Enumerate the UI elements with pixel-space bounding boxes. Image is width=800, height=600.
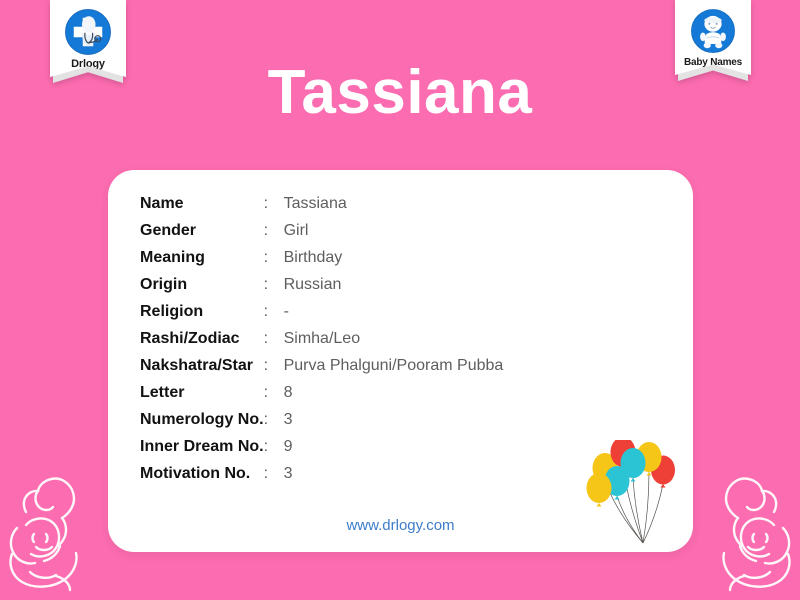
row-separator: : [264, 190, 284, 217]
row-label: Gender [140, 217, 264, 244]
row-label: Nakshatra/Star [140, 352, 264, 379]
table-row: Numerology No. : 3 [140, 406, 503, 433]
row-label: Motivation No. [140, 460, 264, 487]
website-link[interactable]: www.drlogy.com [108, 517, 693, 534]
row-separator: : [264, 325, 284, 352]
row-value: Tassiana [284, 190, 504, 217]
row-separator: : [264, 460, 284, 487]
table-row: Inner Dream No. : 9 [140, 433, 503, 460]
table-row: Motivation No. : 3 [140, 460, 503, 487]
row-value: 3 [284, 406, 504, 433]
row-separator: : [264, 298, 284, 325]
balloons-illustration [579, 440, 687, 552]
table-row: Religion : - [140, 298, 503, 325]
table-row: Meaning : Birthday [140, 244, 503, 271]
table-row: Rashi/Zodiac : Simha/Leo [140, 325, 503, 352]
page-title: Tassiana [0, 58, 800, 128]
table-row: Name : Tassiana [140, 190, 503, 217]
row-separator: : [264, 433, 284, 460]
row-value: 3 [284, 460, 504, 487]
row-label: Name [140, 190, 264, 217]
row-separator: : [264, 217, 284, 244]
name-details-card: Name : Tassiana Gender : Girl Meaning : … [108, 170, 693, 552]
table-row: Gender : Girl [140, 217, 503, 244]
table-row: Letter : 8 [140, 379, 503, 406]
mother-and-baby-line-art-right [696, 468, 800, 598]
table-row: Origin : Russian [140, 271, 503, 298]
row-separator: : [264, 352, 284, 379]
row-value: Girl [284, 217, 504, 244]
mother-and-baby-line-art-left [0, 468, 104, 598]
row-value: 8 [284, 379, 504, 406]
row-value: Russian [284, 271, 504, 298]
doctor-cross-icon [64, 8, 112, 56]
row-value: - [284, 298, 504, 325]
table-body: Name : Tassiana Gender : Girl Meaning : … [140, 190, 503, 487]
row-separator: : [264, 244, 284, 271]
row-label: Origin [140, 271, 264, 298]
row-value: 9 [284, 433, 504, 460]
row-value: Simha/Leo [284, 325, 504, 352]
row-value: Purva Phalguni/Pooram Pubba [284, 352, 504, 379]
row-label: Rashi/Zodiac [140, 325, 264, 352]
row-label: Inner Dream No. [140, 433, 264, 460]
row-separator: : [264, 271, 284, 298]
row-label: Letter [140, 379, 264, 406]
row-value: Birthday [284, 244, 504, 271]
row-separator: : [264, 406, 284, 433]
table-row: Nakshatra/Star : Purva Phalguni/Pooram P… [140, 352, 503, 379]
row-label: Meaning [140, 244, 264, 271]
row-label: Numerology No. [140, 406, 264, 433]
name-details-table: Name : Tassiana Gender : Girl Meaning : … [140, 190, 503, 487]
baby-icon [690, 8, 736, 54]
row-separator: : [264, 379, 284, 406]
row-label: Religion [140, 298, 264, 325]
